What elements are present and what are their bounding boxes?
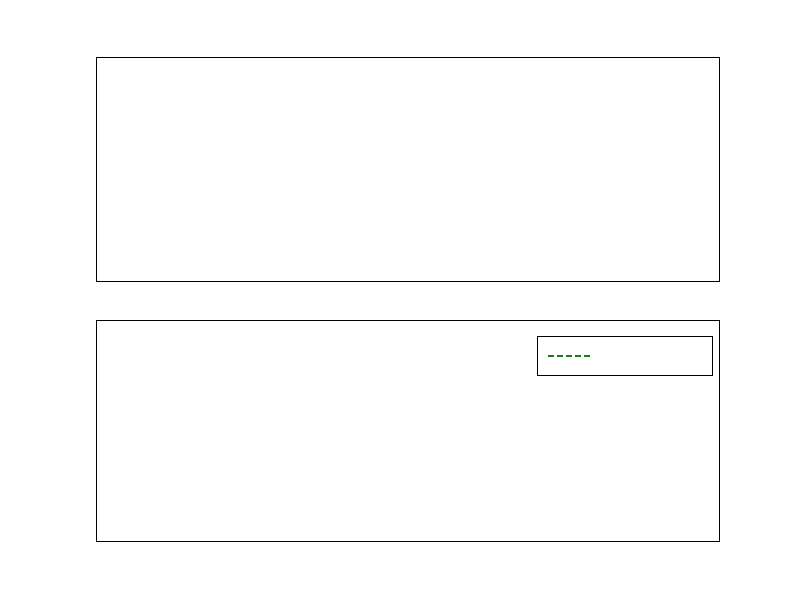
figure-canvas xyxy=(0,0,800,600)
top-panel-axes xyxy=(96,57,720,282)
bottom-panel-axes xyxy=(96,320,720,542)
legend-box[interactable] xyxy=(537,336,713,376)
green-dashed-line-icon xyxy=(548,355,590,357)
histogram-plot-area xyxy=(97,58,719,281)
